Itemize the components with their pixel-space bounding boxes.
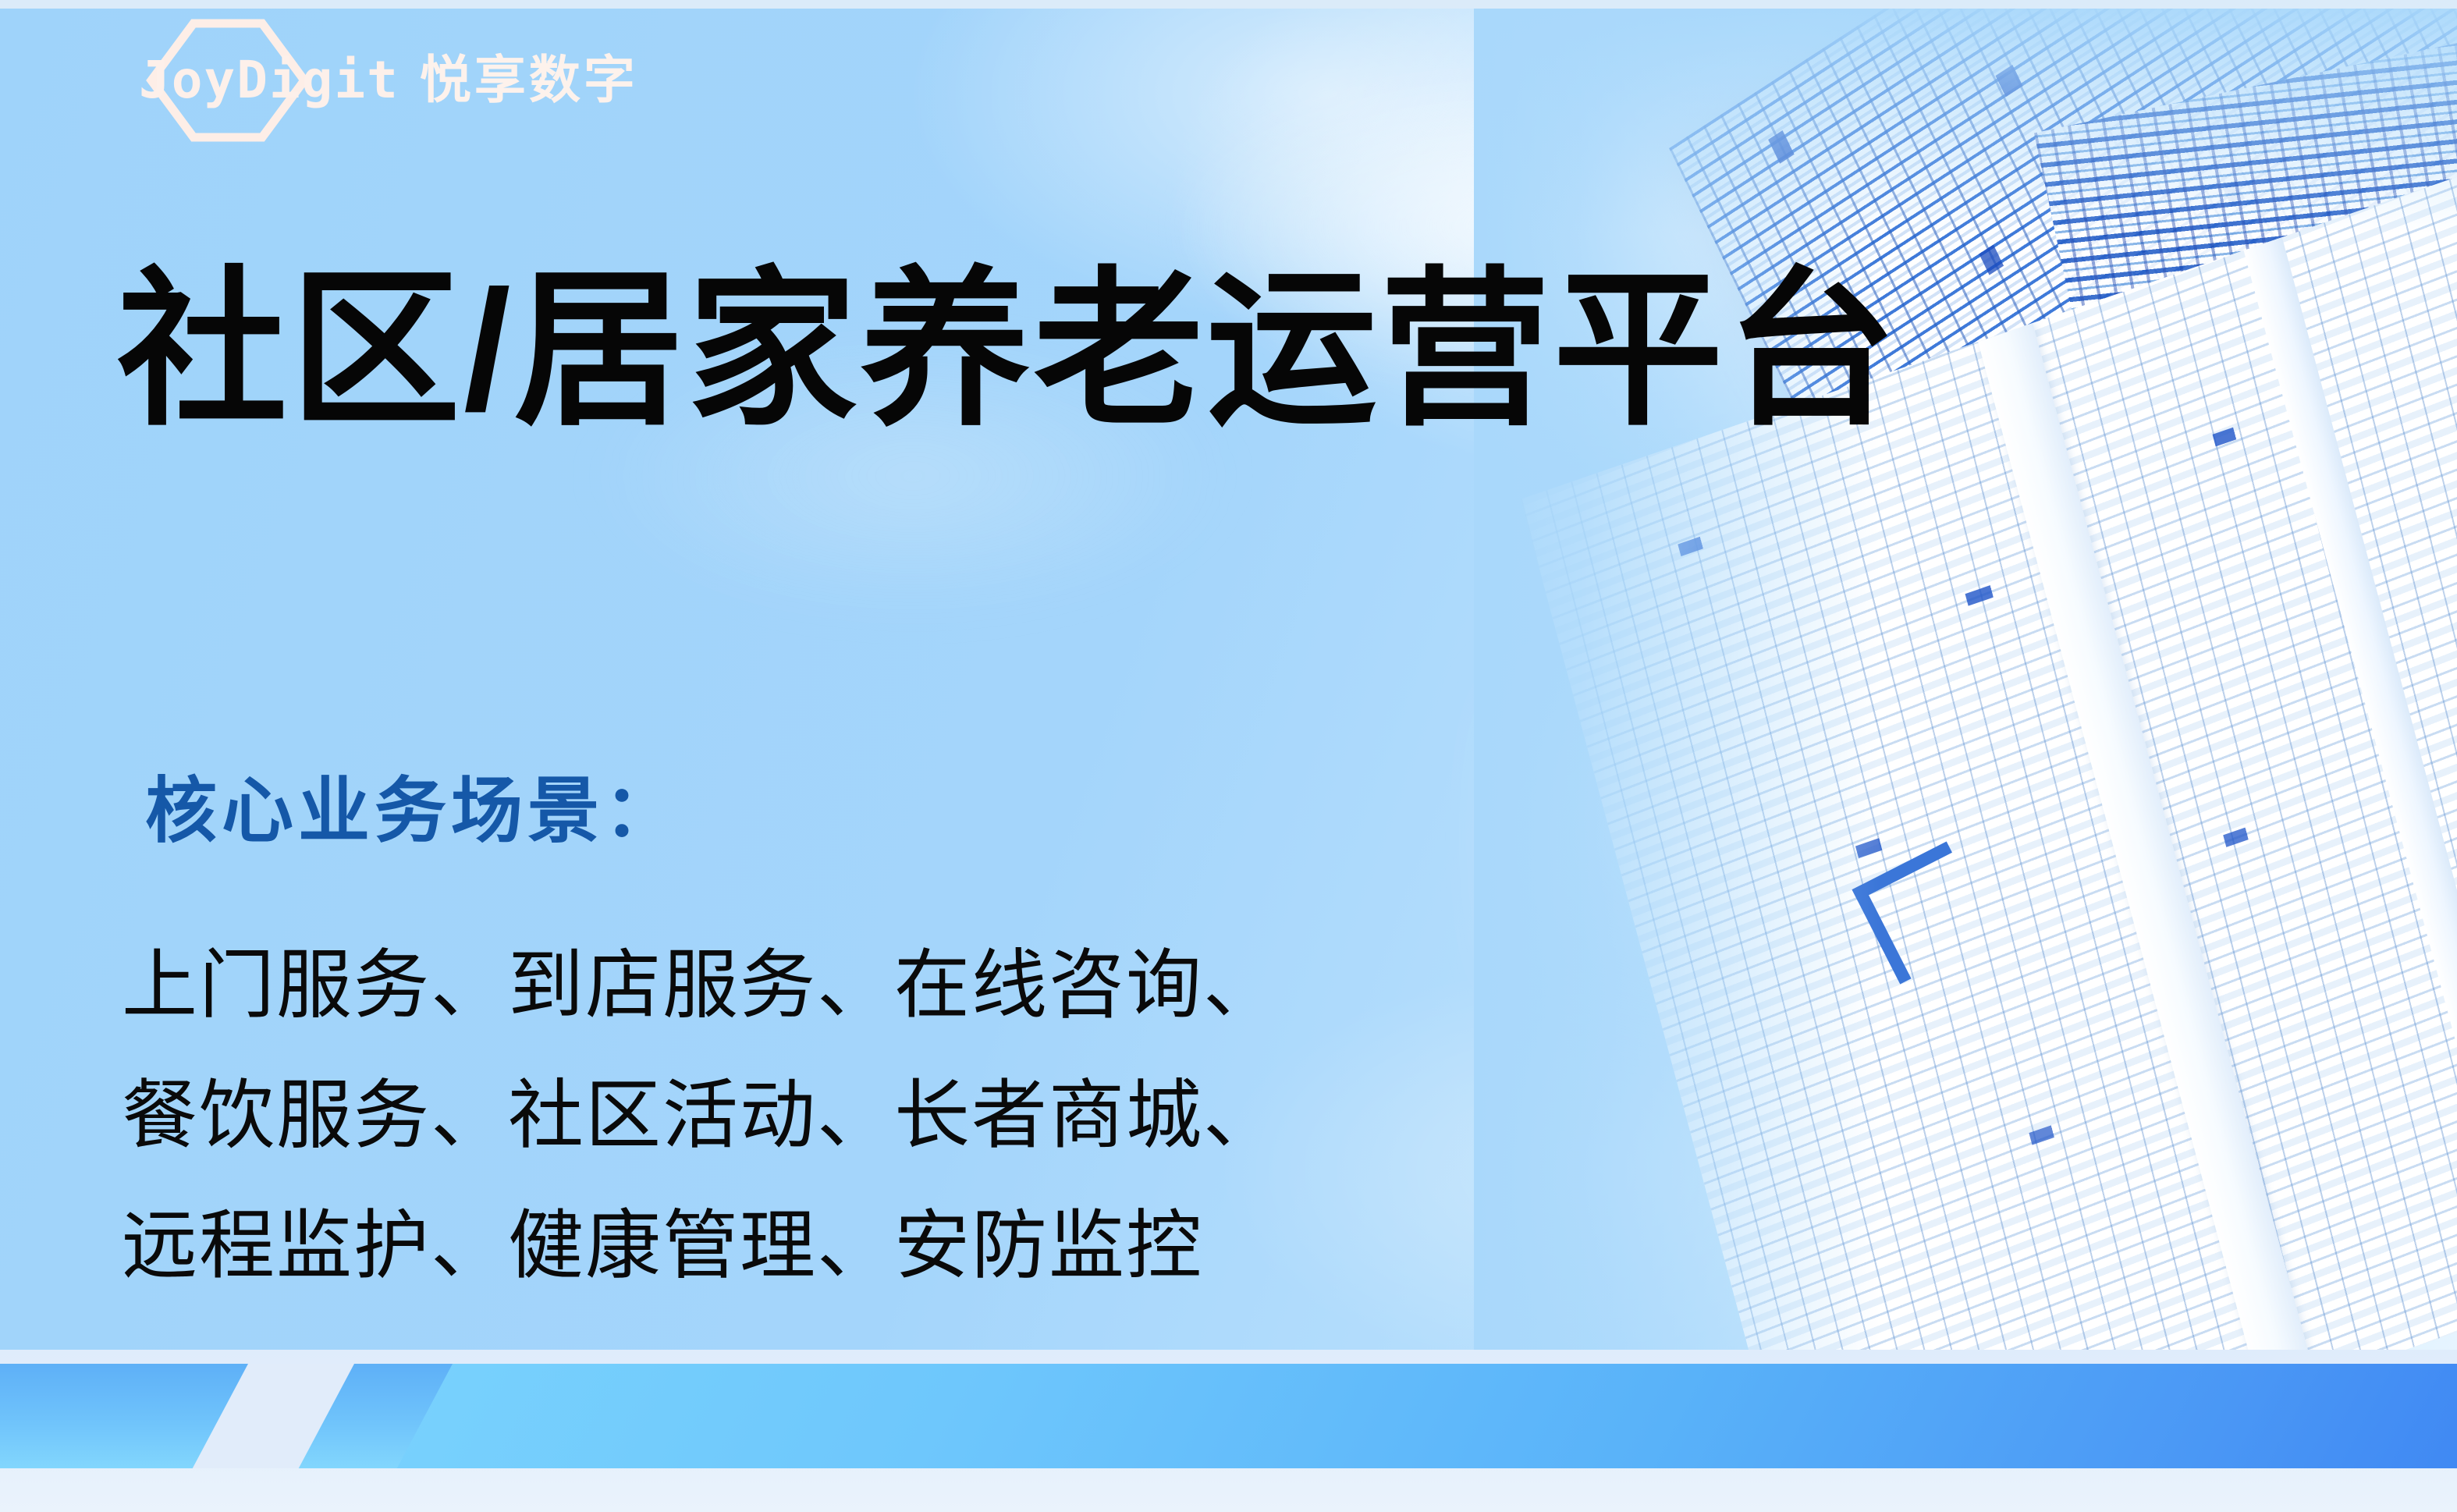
skyscraper-photo [1474, 0, 2457, 1412]
brand-logo: JoyDigit 悦享数字 [131, 33, 669, 126]
section-heading: 核心业务场景： [145, 772, 680, 851]
scenario-line: 远程监护、健康管理、安防监控 [122, 1181, 1280, 1311]
presentation-slide: JoyDigit 悦享数字 社区/居家养老运营平台 核心业务场景： 上门服务、到… [0, 0, 2457, 1512]
logo-latin-text: JoyDigit [139, 55, 399, 106]
logo-chinese-text: 悦享数字 [420, 54, 638, 105]
top-edge-strip [0, 0, 2457, 9]
scenario-line: 餐饮服务、社区活动、长者商城、 [122, 1051, 1280, 1181]
scenario-line: 上门服务、到店服务、在线咨询、 [122, 921, 1280, 1051]
scenario-list: 上门服务、到店服务、在线咨询、 餐饮服务、社区活动、长者商城、 远程监护、健康管… [122, 921, 1280, 1311]
page-title: 社区/居家养老运营平台 [117, 259, 1900, 442]
banner-main-shape [311, 1364, 2457, 1468]
bottom-banner [0, 1350, 2457, 1512]
logo-wordmark: JoyDigit 悦享数字 [131, 54, 638, 106]
